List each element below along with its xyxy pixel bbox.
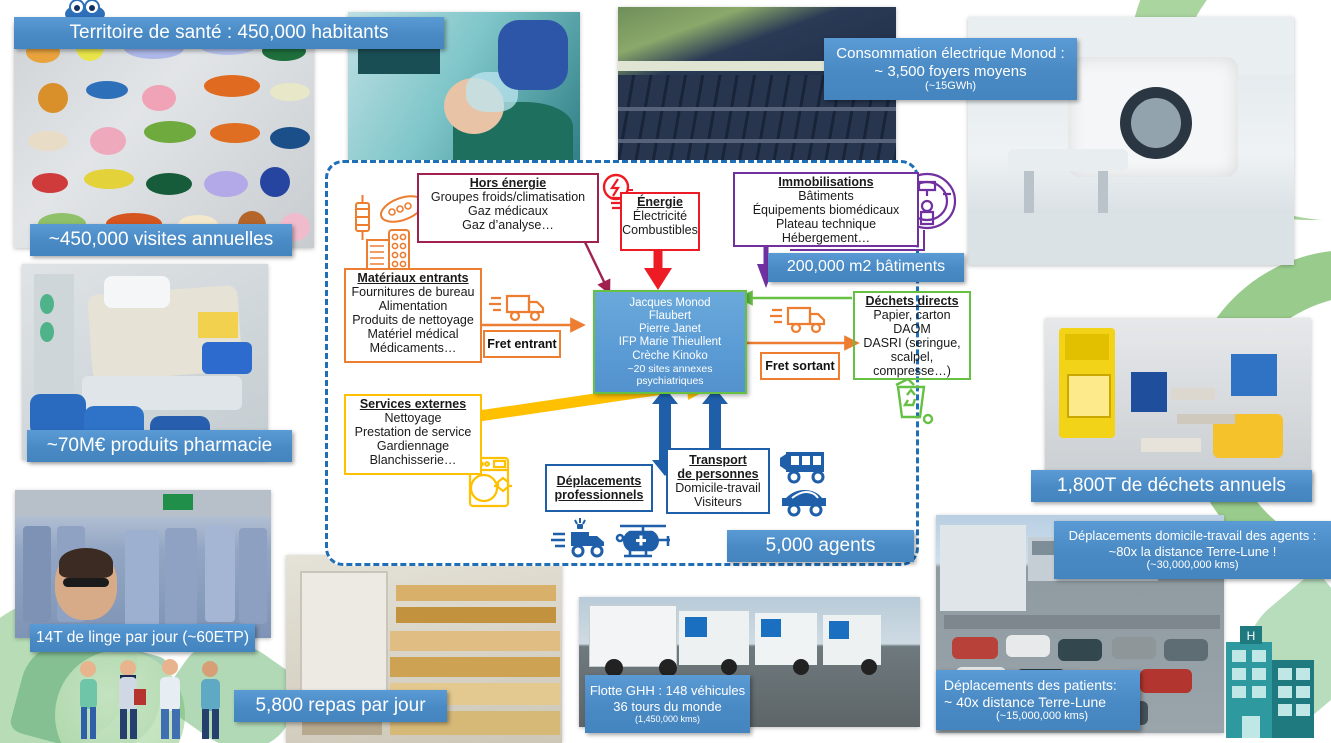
banner-line: Consommation électrique Monod : bbox=[836, 45, 1064, 63]
box-transport-personnes: Transport de personnes Domicile-travail … bbox=[666, 448, 770, 514]
box-hors-energie-line: Gaz médicaux bbox=[468, 204, 548, 218]
box-services-line: Gardiennage bbox=[377, 439, 449, 453]
box-hors-energie-title: Hors énergie bbox=[419, 176, 597, 190]
box-immobilisations: Immobilisations Bâtiments Équipements bi… bbox=[733, 172, 919, 247]
box-hors-energie-line: Gaz d’analyse… bbox=[462, 218, 554, 232]
box-dechets-directs: Déchets directs Papier, carton DAOM DASR… bbox=[853, 291, 971, 380]
banner-line: (~15,000,000 kms) bbox=[996, 710, 1088, 723]
center-line: Pierre Janet bbox=[639, 323, 701, 336]
car-icon bbox=[778, 486, 830, 518]
box-hors-energie: Hors énergie Groupes froids/climatisatio… bbox=[417, 173, 599, 243]
banner-line: 5,800 repas par jour bbox=[255, 695, 425, 717]
banner-consommation-electrique: Consommation électrique Monod : ~ 3,500 … bbox=[824, 38, 1077, 100]
box-services-line: Prestation de service bbox=[355, 425, 472, 439]
banner-line: ~ 3,500 foyers moyens bbox=[874, 63, 1026, 81]
box-services-line: Blanchisserie… bbox=[370, 453, 457, 467]
banner-line: ~70M€ produits pharmacie bbox=[47, 435, 273, 457]
helicopter-icon bbox=[612, 518, 674, 562]
banner-line: 36 tours du monde bbox=[613, 699, 721, 714]
banner-line: Déplacements des patients: bbox=[944, 677, 1117, 694]
banner-agents: 5,000 agents bbox=[727, 530, 914, 562]
banner-line: 5,000 agents bbox=[766, 535, 876, 557]
box-services-line: Nettoyage bbox=[385, 411, 442, 425]
banner-line: Territoire de santé : 450,000 habitants bbox=[70, 22, 389, 44]
banner-line: (~15GWh) bbox=[925, 80, 976, 93]
photo-laundry bbox=[15, 490, 271, 638]
tag-fret-sortant-label: Fret sortant bbox=[765, 359, 834, 373]
box-immobilisations-title: Immobilisations bbox=[735, 175, 917, 189]
box-materiaux-entrants: Matériaux entrants Fournitures de bureau… bbox=[344, 268, 482, 363]
banner-line: 14T de linge par jour (~60ETP) bbox=[36, 629, 249, 647]
box-services-title: Services externes bbox=[346, 397, 480, 411]
banner-line: ~450,000 visites annuelles bbox=[49, 229, 273, 251]
box-dechets-line: DASRI (seringue, bbox=[863, 336, 960, 350]
banner-repas: 5,800 repas par jour bbox=[234, 690, 447, 722]
box-materiaux-line: Produits de nettoyage bbox=[352, 313, 474, 327]
box-materiaux-line: Fournitures de bureau bbox=[352, 285, 475, 299]
svg-text:H: H bbox=[1247, 629, 1256, 643]
box-deplacements-professionnels: Déplacements professionnels bbox=[545, 464, 653, 512]
box-dechets-line: DAOM bbox=[893, 322, 931, 336]
box-energie-title: Énergie bbox=[622, 195, 698, 209]
box-transport-line: Visiteurs bbox=[694, 495, 742, 509]
box-materiaux-line: Alimentation bbox=[379, 299, 448, 313]
delivery-truck-icon bbox=[489, 288, 547, 324]
pill-blister-icon bbox=[365, 228, 411, 272]
medical-staff-illustration bbox=[60, 655, 240, 743]
banner-patients: Déplacements des patients: ~ 40x distanc… bbox=[936, 670, 1140, 730]
banner-flotte: Flotte GHH : 148 véhicules 36 tours du m… bbox=[585, 675, 750, 733]
banner-line: (~30,000,000 kms) bbox=[1146, 559, 1238, 572]
photo-medicines bbox=[14, 23, 314, 248]
box-materiaux-line: Matériel médical bbox=[367, 327, 458, 341]
banner-line: ~ 40x distance Terre-Lune bbox=[944, 694, 1106, 711]
tag-fret-sortant: Fret sortant bbox=[760, 352, 840, 380]
banner-batiments: 200,000 m2 bâtiments bbox=[768, 253, 964, 282]
box-services-externes: Services externes Nettoyage Prestation d… bbox=[344, 394, 482, 475]
tag-fret-entrant: Fret entrant bbox=[483, 330, 561, 358]
ambulance-icon bbox=[551, 518, 611, 562]
center-line: ~20 sites annexes psychiatriques bbox=[595, 363, 745, 387]
box-immobilisations-line: Équipements biomédicaux bbox=[753, 203, 900, 217]
box-deplacements-title2: professionnels bbox=[555, 488, 644, 502]
box-energie: Énergie Électricité Combustibles bbox=[620, 192, 700, 251]
banner-territoire: Territoire de santé : 450,000 habitants bbox=[14, 17, 444, 49]
box-energie-line: Électricité bbox=[633, 209, 687, 223]
infographic-canvas: H bbox=[0, 0, 1331, 743]
box-materiaux-title: Matériaux entrants bbox=[346, 271, 480, 285]
hospital-building-icon: H bbox=[1222, 620, 1318, 740]
banner-dechets: 1,800T de déchets annuels bbox=[1031, 470, 1312, 502]
banner-domicile-travail: Déplacements domicile-travail des agents… bbox=[1054, 521, 1331, 579]
banner-visites: ~450,000 visites annuelles bbox=[30, 224, 292, 256]
box-hors-energie-line: Groupes froids/climatisation bbox=[431, 190, 585, 204]
box-deplacements-title: Déplacements bbox=[557, 474, 642, 488]
photo-medical-waste bbox=[1045, 318, 1311, 484]
box-materiaux-line: Médicaments… bbox=[370, 341, 457, 355]
banner-line: Déplacements domicile-travail des agents… bbox=[1069, 528, 1317, 543]
box-transport-title: Transport bbox=[689, 453, 747, 467]
box-immobilisations-line: Bâtiments bbox=[798, 189, 854, 203]
box-dechets-title: Déchets directs bbox=[855, 294, 969, 308]
center-line: Flaubert bbox=[649, 310, 691, 323]
banner-line: 1,800T de déchets annuels bbox=[1057, 475, 1286, 497]
box-immobilisations-line: Plateau technique bbox=[776, 217, 876, 231]
tag-fret-entrant-label: Fret entrant bbox=[487, 337, 556, 351]
center-line: IFP Marie Thieullent bbox=[619, 336, 721, 349]
box-central-establishments: Jacques Monod Flaubert Pierre Janet IFP … bbox=[593, 290, 747, 394]
banner-pharmacie: ~70M€ produits pharmacie bbox=[27, 430, 292, 462]
banner-linge: 14T de linge par jour (~60ETP) bbox=[30, 624, 255, 652]
delivery-truck-icon bbox=[770, 300, 828, 336]
box-dechets-line: Papier, carton bbox=[873, 308, 950, 322]
box-transport-title2: de personnes bbox=[677, 467, 758, 481]
center-line: Crèche Kinoko bbox=[632, 350, 707, 363]
banner-line: 200,000 m2 bâtiments bbox=[787, 258, 945, 277]
banner-line: ~80x la distance Terre-Lune ! bbox=[1109, 544, 1277, 559]
banner-line: (1,450,000 kms) bbox=[635, 714, 700, 725]
center-line: Jacques Monod bbox=[629, 297, 710, 310]
box-immobilisations-line: Hébergement… bbox=[782, 231, 870, 245]
bus-icon bbox=[778, 448, 830, 484]
box-transport-line: Domicile-travail bbox=[675, 481, 760, 495]
box-energie-line: Combustibles bbox=[622, 223, 698, 237]
box-dechets-line: scalpel, compresse…) bbox=[873, 350, 951, 378]
recycle-bin-icon bbox=[890, 375, 936, 427]
banner-line: Flotte GHH : 148 véhicules bbox=[590, 683, 745, 698]
